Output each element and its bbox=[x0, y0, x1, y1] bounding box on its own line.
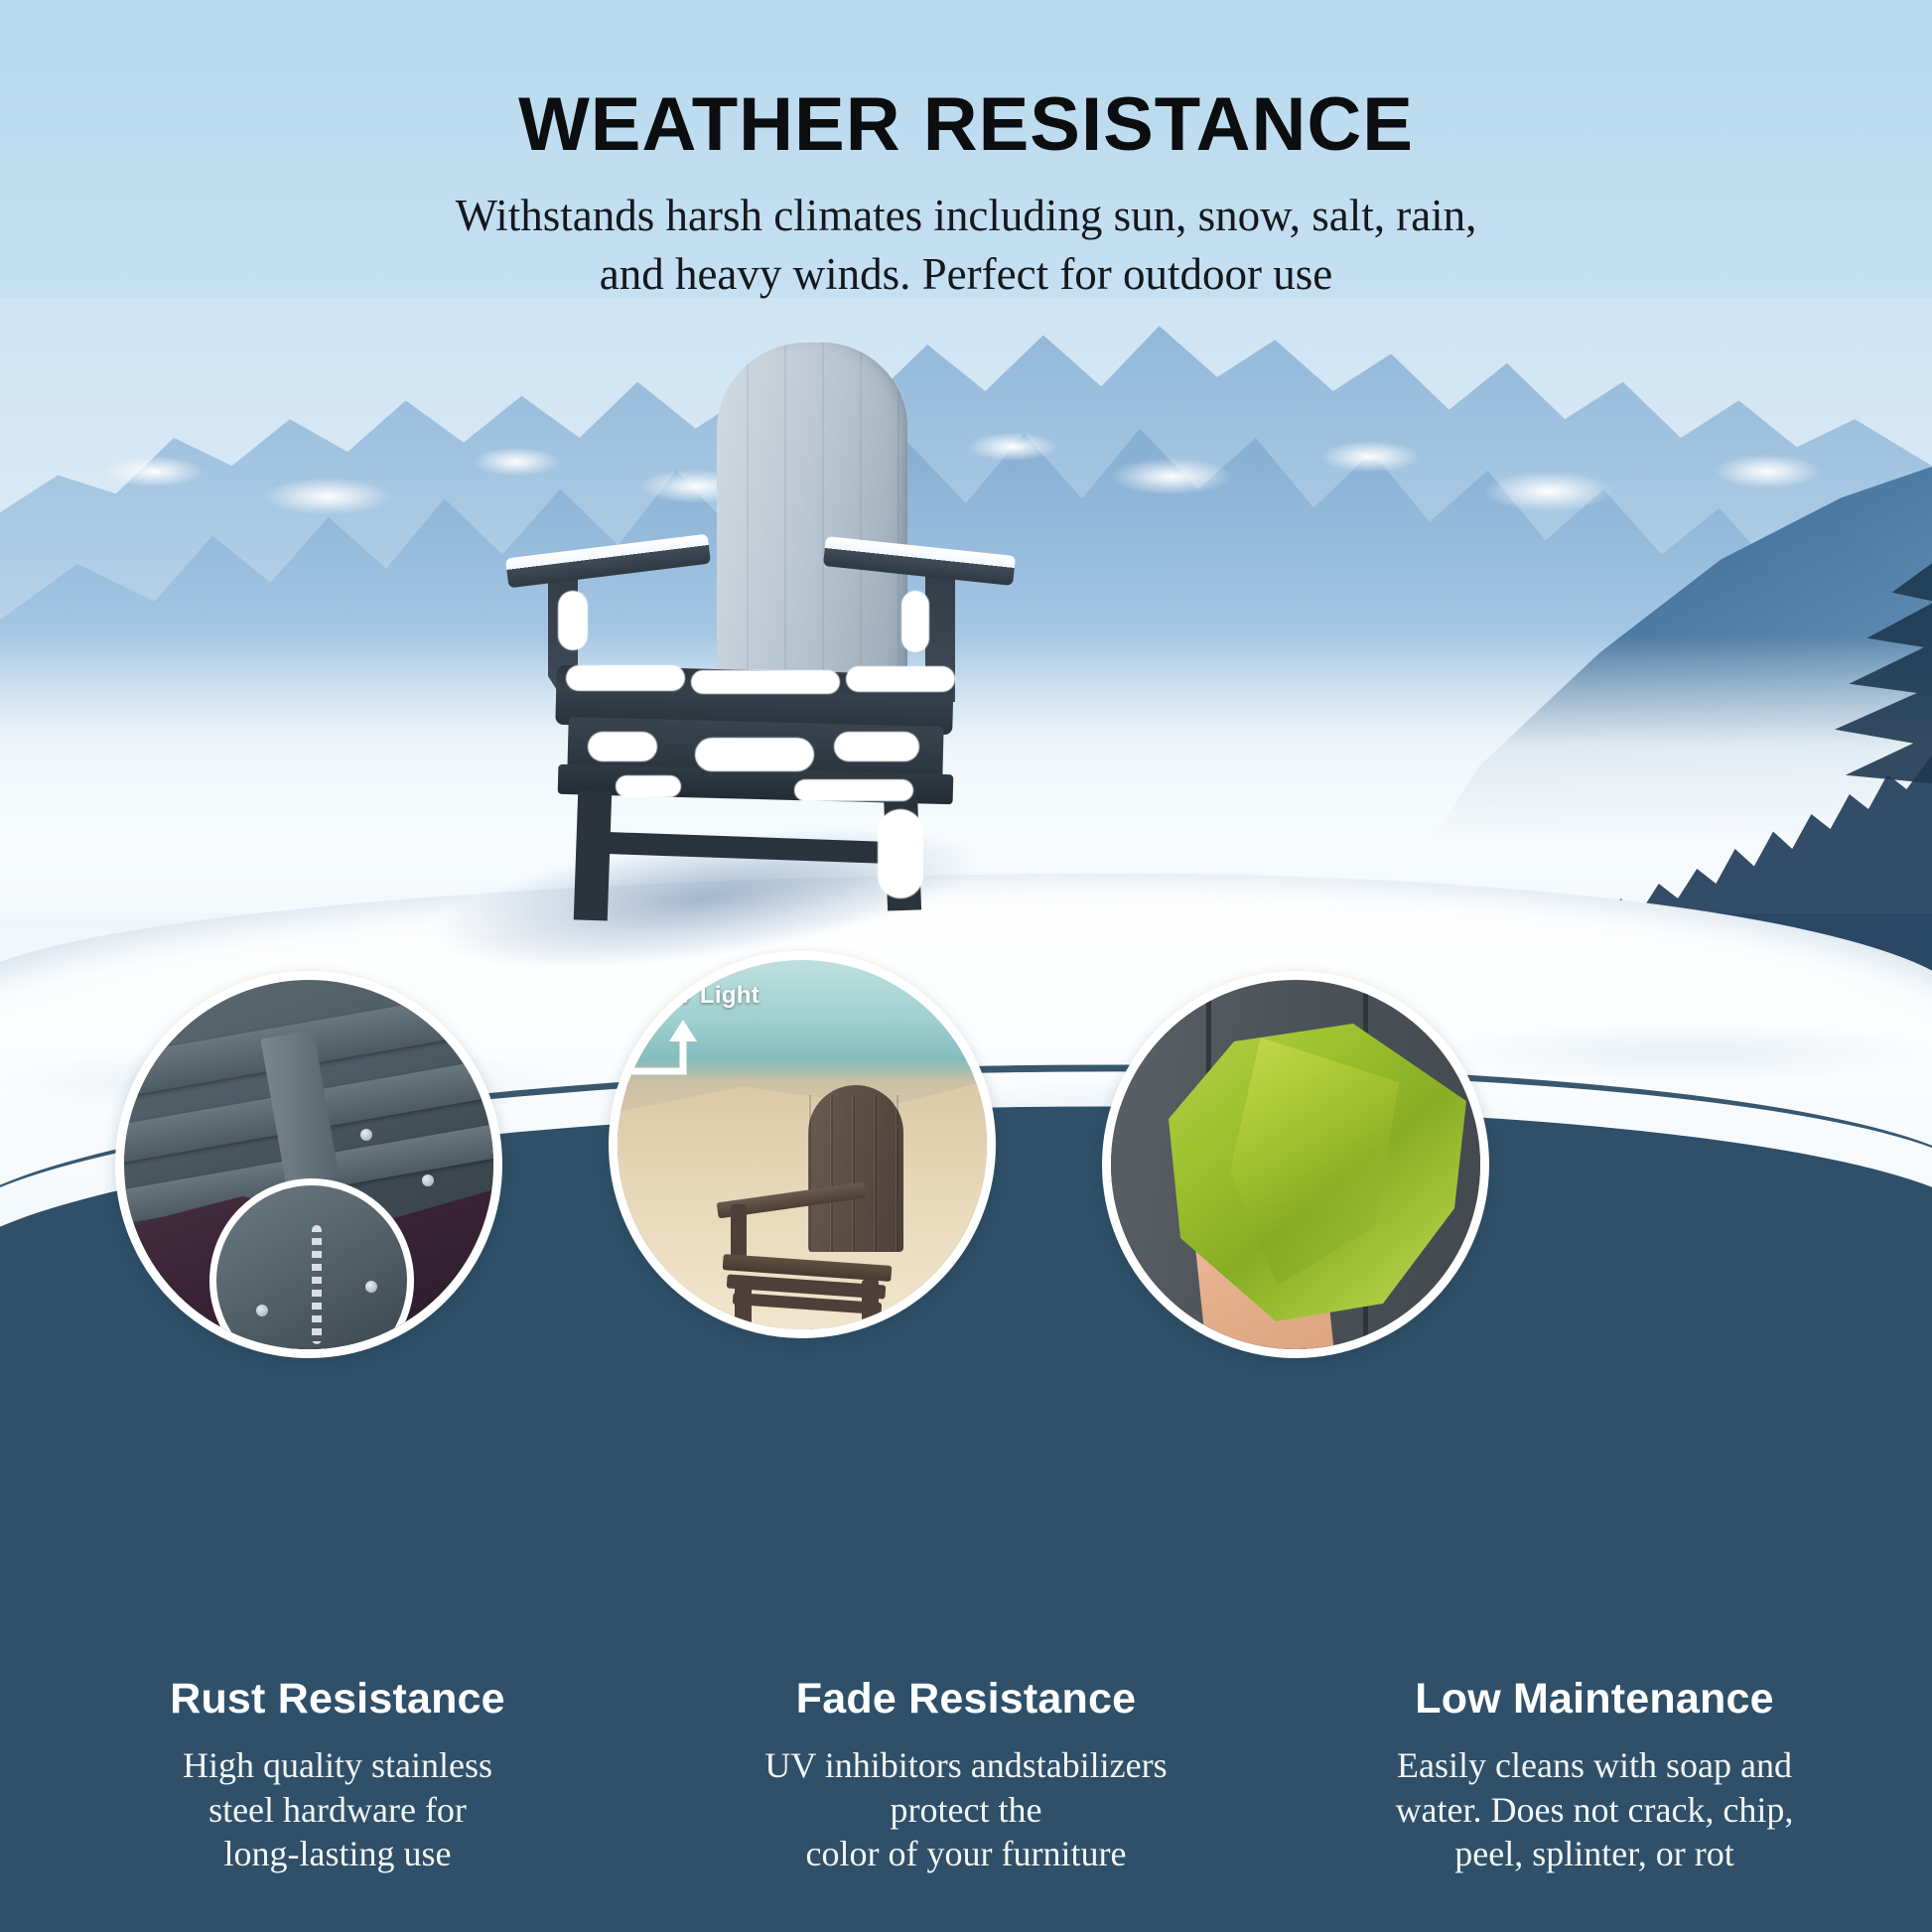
feature-desc-line-2: protect the bbox=[891, 1790, 1042, 1830]
bolt-icon bbox=[422, 1174, 434, 1186]
feature-image-fade-resistance: UV Light bbox=[609, 951, 996, 1338]
bolt-icon bbox=[365, 1281, 377, 1293]
chair-backrest bbox=[808, 1085, 903, 1252]
bolt-icon bbox=[256, 1305, 268, 1316]
feature-title: Fade Resistance bbox=[688, 1675, 1244, 1724]
feature-desc-line-1: Easily cleans with soap and bbox=[1397, 1745, 1792, 1785]
brown-chair-on-beach-photo: UV Light bbox=[618, 960, 987, 1329]
feature-low-maintenance: Low Maintenance Easily cleans with soap … bbox=[1316, 1675, 1872, 1876]
feature-title: Rust Resistance bbox=[60, 1675, 616, 1724]
snow-patch bbox=[846, 666, 955, 692]
feature-text-row: Rust Resistance High quality stainless s… bbox=[0, 1675, 1932, 1876]
chair-left-armrest bbox=[505, 534, 711, 589]
infographic-page: WEATHER RESISTANCE Withstands harsh clim… bbox=[0, 0, 1932, 1932]
snow-patch bbox=[901, 591, 929, 652]
snow-patch bbox=[588, 732, 657, 761]
brown-adirondack-chair bbox=[713, 1085, 941, 1333]
snow-covered-adirondack-chair bbox=[496, 343, 1013, 898]
chair-leg bbox=[735, 1284, 752, 1337]
subtitle-line-1: Withstands harsh climates including sun,… bbox=[456, 191, 1477, 240]
feature-desc-line-3: long-lasting use bbox=[224, 1834, 452, 1873]
feature-desc-line-1: UV inhibitors andstabilizers bbox=[764, 1745, 1167, 1785]
bolt-icon bbox=[360, 1129, 372, 1141]
chair-backrest bbox=[717, 343, 907, 690]
feature-description: Easily cleans with soap and water. Does … bbox=[1316, 1743, 1872, 1876]
snow-patch bbox=[558, 591, 588, 650]
feature-image-row: UV Light bbox=[0, 943, 1932, 1420]
feature-desc-line-2: water. Does not crack, chip, bbox=[1396, 1790, 1794, 1830]
chair-back-left-leg bbox=[574, 790, 613, 920]
feature-description: High quality stainless steel hardware fo… bbox=[60, 1743, 616, 1876]
uv-arrow-icon bbox=[631, 1018, 729, 1081]
feature-image-low-maintenance bbox=[1102, 971, 1489, 1358]
snow-patch bbox=[691, 670, 840, 694]
page-subtitle: Withstands harsh climates including sun,… bbox=[380, 187, 1552, 305]
feature-desc-line-1: High quality stainless bbox=[183, 1745, 492, 1785]
feature-rust-resistance: Rust Resistance High quality stainless s… bbox=[60, 1675, 616, 1876]
snow-patch bbox=[695, 738, 814, 771]
feature-title: Low Maintenance bbox=[1316, 1675, 1872, 1724]
feature-image-rust-resistance bbox=[115, 971, 502, 1358]
page-title: WEATHER RESISTANCE bbox=[0, 81, 1932, 168]
subtitle-line-2: and heavy winds. Perfect for outdoor use bbox=[600, 249, 1333, 299]
feature-desc-line-2: steel hardware for bbox=[208, 1790, 467, 1830]
chain-detail bbox=[312, 1225, 322, 1344]
hand-wiping-chair-with-green-cloth-photo bbox=[1111, 980, 1480, 1349]
snow-patch bbox=[794, 779, 913, 801]
feature-desc-line-3: peel, splinter, or rot bbox=[1454, 1834, 1733, 1873]
feature-desc-line-3: color of your furniture bbox=[806, 1834, 1127, 1873]
snow-patch bbox=[834, 732, 919, 761]
snow-patch bbox=[566, 665, 685, 691]
feature-fade-resistance: Fade Resistance UV inhibitors andstabili… bbox=[688, 1675, 1244, 1876]
stainless-hardware-closeup bbox=[209, 1178, 414, 1358]
snow-patch bbox=[616, 775, 681, 797]
uv-light-callout: UV Light bbox=[659, 982, 759, 1010]
snow-patch bbox=[878, 809, 923, 898]
chair-leg bbox=[862, 1280, 879, 1335]
feature-description: UV inhibitors andstabilizers protect the… bbox=[688, 1743, 1244, 1876]
